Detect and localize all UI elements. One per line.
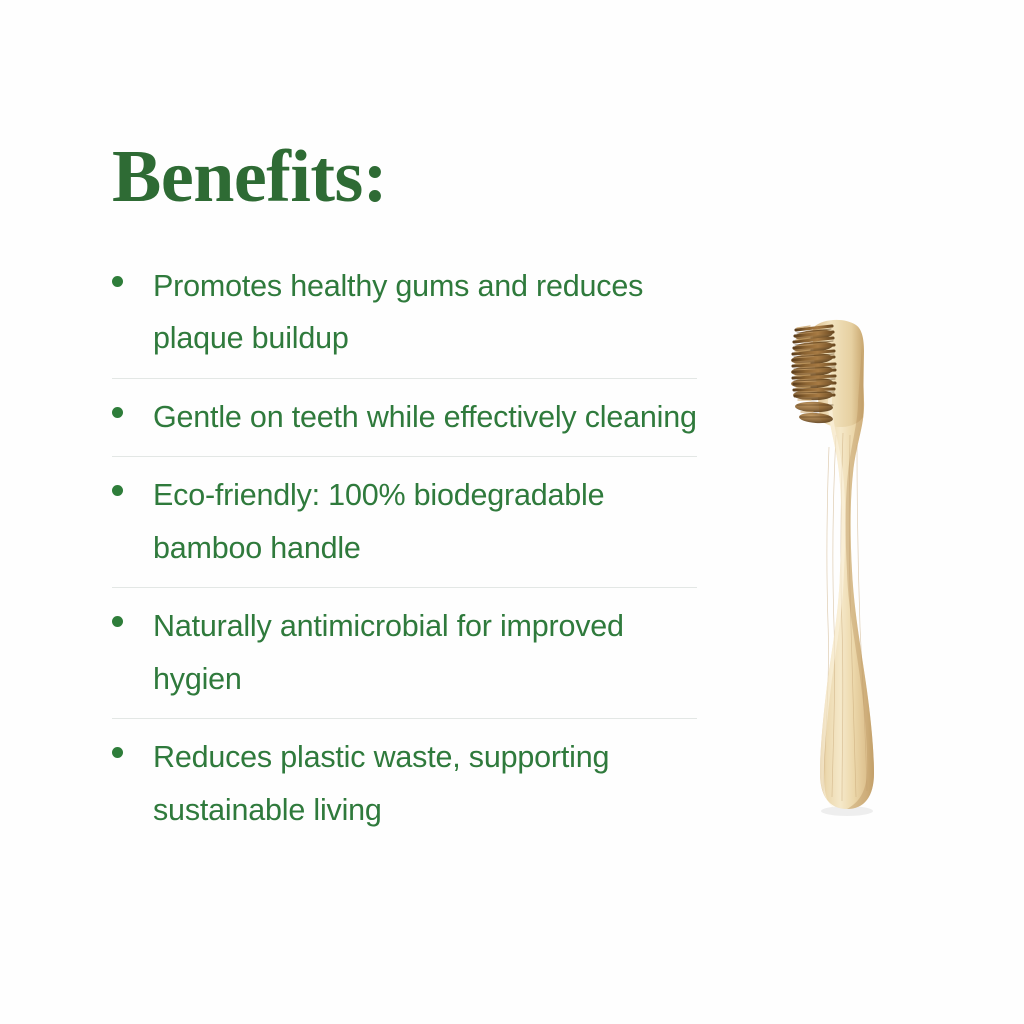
bamboo-toothbrush-image bbox=[770, 305, 920, 825]
bullet-dot-icon bbox=[112, 276, 123, 287]
bullet-dot-icon bbox=[112, 485, 123, 496]
list-item: Eco-friendly: 100% biodegradable bamboo … bbox=[112, 469, 712, 574]
benefits-infographic: Benefits: Promotes healthy gums and redu… bbox=[0, 0, 1024, 1024]
list-item: Promotes healthy gums and reduces plaque… bbox=[112, 260, 712, 365]
list-item: Gentle on teeth while effectively cleani… bbox=[112, 391, 712, 443]
list-item-label: Gentle on teeth while effectively cleani… bbox=[153, 391, 697, 443]
list-divider bbox=[112, 456, 697, 457]
bullet-dot-icon bbox=[112, 747, 123, 758]
list-item-label: Promotes healthy gums and reduces plaque… bbox=[153, 260, 712, 365]
bullet-dot-icon bbox=[112, 407, 123, 418]
benefits-list: Promotes healthy gums and reduces plaque… bbox=[112, 260, 712, 836]
bullet-dot-icon bbox=[112, 616, 123, 627]
list-divider bbox=[112, 378, 697, 379]
page-title: Benefits: bbox=[112, 140, 712, 214]
benefits-content-column: Benefits: Promotes healthy gums and redu… bbox=[112, 140, 712, 836]
list-item: Naturally antimicrobial for improved hyg… bbox=[112, 600, 712, 705]
list-divider bbox=[112, 718, 697, 719]
list-item-label: Eco-friendly: 100% biodegradable bamboo … bbox=[153, 469, 712, 574]
list-item-label: Naturally antimicrobial for improved hyg… bbox=[153, 600, 712, 705]
toothbrush-illustration bbox=[770, 305, 920, 825]
list-item-label: Reduces plastic waste, supporting sustai… bbox=[153, 731, 712, 836]
list-divider bbox=[112, 587, 697, 588]
list-item: Reduces plastic waste, supporting sustai… bbox=[112, 731, 712, 836]
